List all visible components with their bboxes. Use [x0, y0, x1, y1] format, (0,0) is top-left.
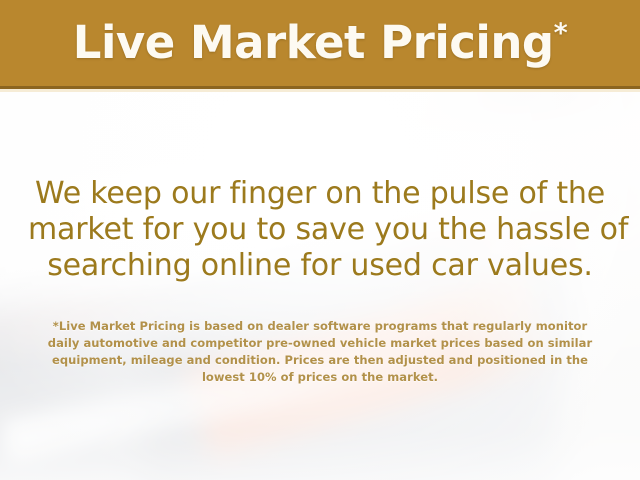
- disclaimer-text: *Live Market Pricing is based on dealer …: [24, 318, 616, 386]
- page-title: Live Market Pricing*: [73, 20, 567, 68]
- disclaimer-line-1: *Live Market Pricing is based on dealer …: [24, 318, 616, 335]
- headline-text: We keep our finger on the pulse of the m…: [28, 176, 612, 284]
- headline-line-1: We keep our finger on the pulse of the: [28, 176, 612, 212]
- live-market-pricing-slide: Live Market Pricing* We keep our finger …: [0, 0, 640, 480]
- banner-underline-rule: [0, 89, 640, 92]
- disclaimer-line-4: lowest 10% of prices on the market.: [24, 369, 616, 386]
- headline-line-2: market for you to save you the hassle of: [28, 212, 612, 248]
- page-title-text: Live Market Pricing: [73, 16, 554, 69]
- headline-line-3: searching online for used car values.: [28, 248, 612, 284]
- page-title-asterisk: *: [554, 18, 568, 49]
- disclaimer-line-3: equipment, mileage and condition. Prices…: [24, 352, 616, 369]
- disclaimer-line-2: daily automotive and competitor pre-owne…: [24, 335, 616, 352]
- header-banner: Live Market Pricing*: [0, 0, 640, 88]
